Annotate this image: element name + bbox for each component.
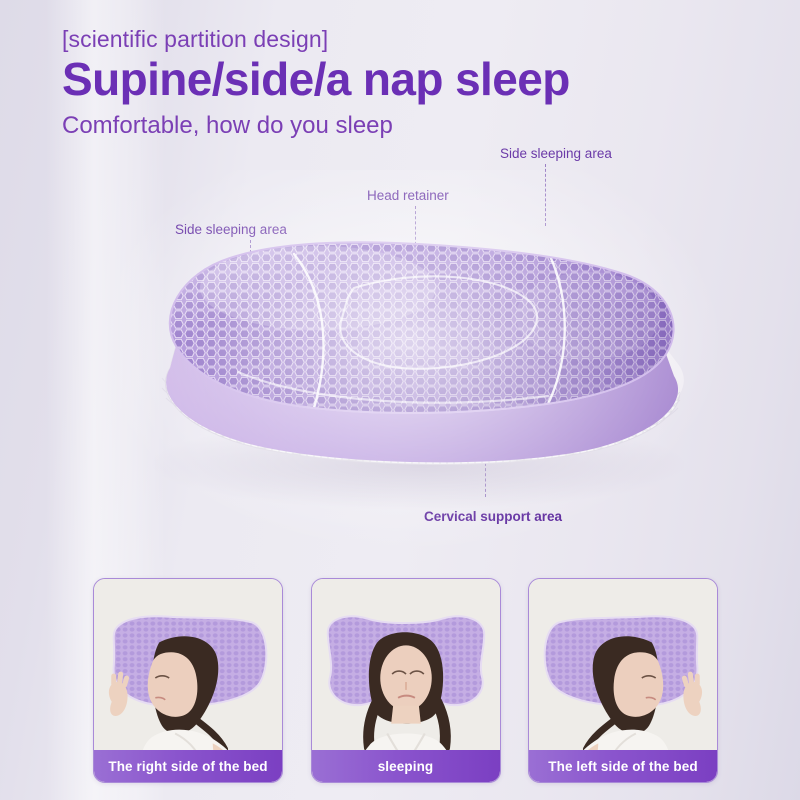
pillow-mesh-top bbox=[170, 242, 674, 413]
product-page: [scientific partition design] Supine/sid… bbox=[0, 0, 800, 800]
callout-side-sleeping-right: Side sleeping area bbox=[500, 146, 612, 161]
usage-scenario-cards: The right side of the bed bbox=[93, 578, 718, 783]
eyebrow-text: [scientific partition design] bbox=[62, 26, 328, 53]
subtitle-text: Comfortable, how do you sleep bbox=[62, 112, 393, 140]
card-caption-left-side: The left side of the bed bbox=[529, 750, 717, 782]
page-title: Supine/side/a nap sleep bbox=[62, 55, 570, 103]
hero-product-image bbox=[118, 196, 698, 526]
card-caption-right-side: The right side of the bed bbox=[94, 750, 282, 782]
scenario-card-left-side[interactable]: The left side of the bed bbox=[528, 578, 718, 783]
scenario-card-sleeping[interactable]: sleeping bbox=[311, 578, 501, 783]
card-caption-sleeping: sleeping bbox=[312, 750, 500, 782]
scenario-card-right-side[interactable]: The right side of the bed bbox=[93, 578, 283, 783]
